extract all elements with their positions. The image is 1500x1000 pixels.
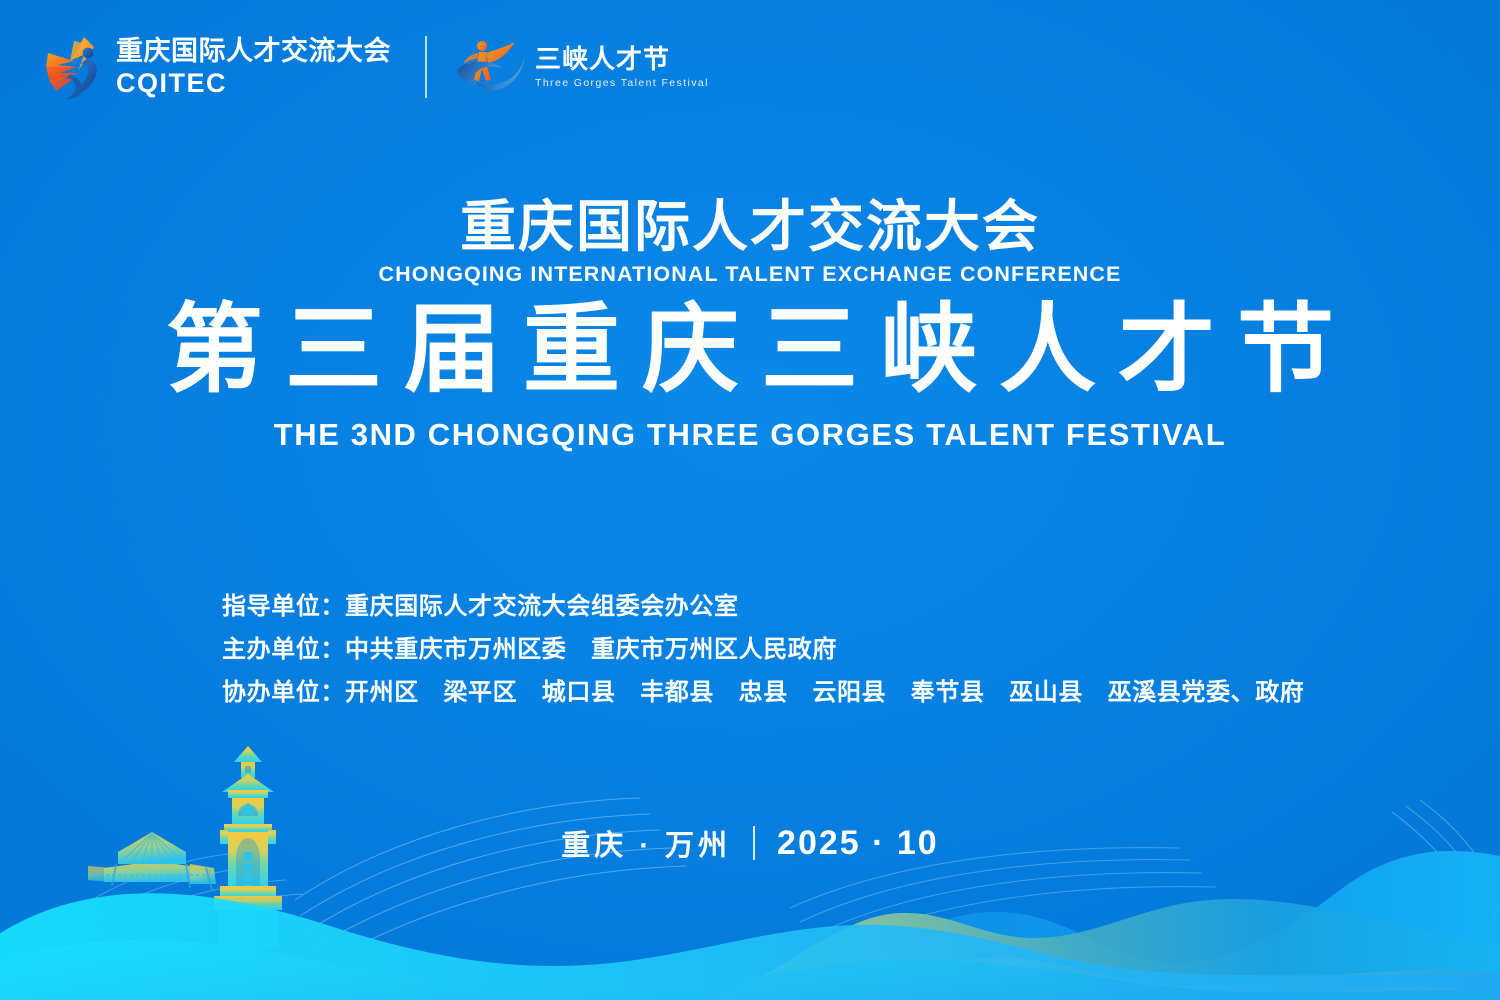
organizer-list: 指导单位：重庆国际人才交流大会组委会办公室 主办单位：中共重庆市万州区委 重庆市… [222,585,1304,714]
cqitec-bird-figure-logo-icon [44,33,106,101]
header-logos: 重庆国际人才交流大会 CQITEC [44,30,709,104]
conference-title-cn: 重庆国际人才交流大会 [0,198,1500,257]
logo-cqitec-en: CQITEC [116,70,391,97]
logo-cqitec: 重庆国际人才交流大会 CQITEC [44,33,391,101]
logo-divider [425,36,427,98]
event-city: 重庆 · 万州 [561,822,731,864]
page-title: 第三届重庆三峡人才节 [0,293,1500,407]
organizer-line-guidance: 指导单位：重庆国际人才交流大会组委会办公室 [222,585,1304,628]
poster-canvas: 重庆国际人才交流大会 CQITEC [0,0,1500,1000]
organizer-line-host: 主办单位：中共重庆市万州区委 重庆市万州区人民政府 [222,628,1304,671]
title-group: 重庆国际人才交流大会 CHONGQING INTERNATIONAL TALEN… [0,198,1500,453]
logo-three-gorges-en: Three Gorges Talent Festival [535,78,709,89]
logo-three-gorges: 三峡人才节 Three Gorges Talent Festival [455,38,709,96]
place-date-group: 重庆 · 万州 2025 · 10 [0,822,1500,864]
event-date: 2025 · 10 [777,824,939,863]
logo-cqitec-cn: 重庆国际人才交流大会 [116,38,391,65]
organizer-line-coorganizers: 协办单位：开州区 梁平区 城口县 丰都县 忠县 云阳县 奉节县 巫山县 巫溪县党… [222,671,1304,714]
place-date-divider [753,826,755,860]
page-title-en: THE 3ND CHONGQING THREE GORGES TALENT FE… [0,417,1500,453]
three-gorges-talent-figure-wave-logo-icon [455,38,527,96]
conference-title-en: CHONGQING INTERNATIONAL TALENT EXCHANGE … [0,262,1500,287]
logo-three-gorges-cn: 三峡人才节 [535,46,709,72]
bottom-wave-decoration [0,740,1500,1000]
